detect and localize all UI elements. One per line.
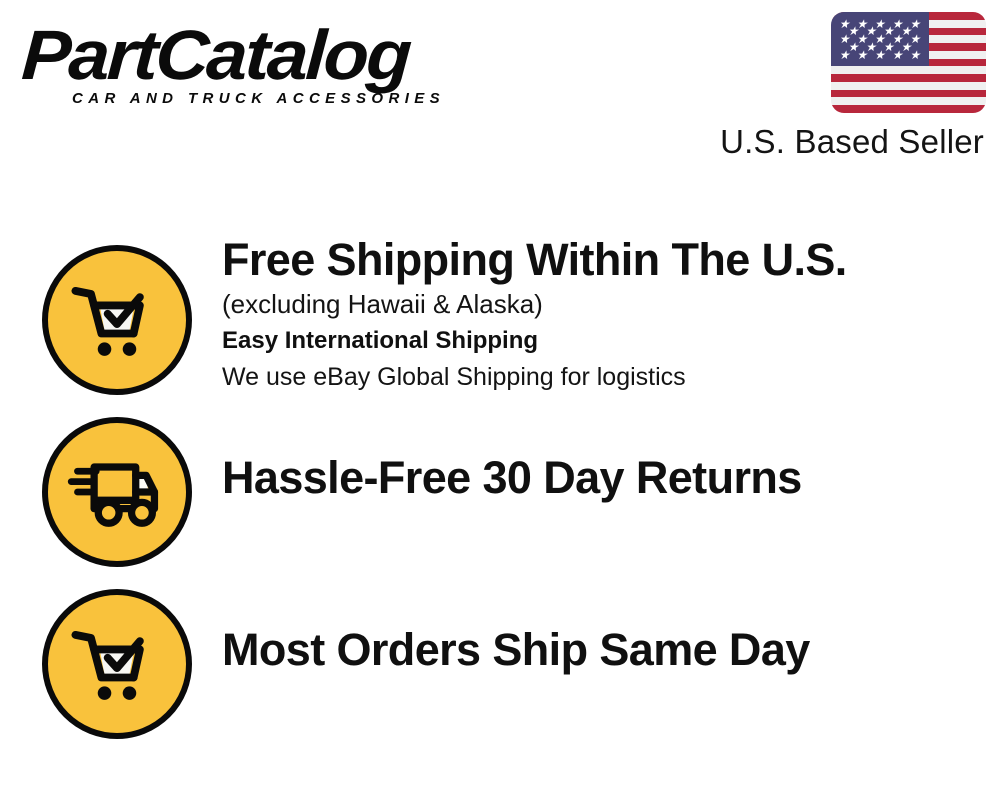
feature-row: Hassle-Free 30 Day Returns <box>0 404 1000 576</box>
flag-stripe <box>831 74 986 82</box>
us-flag-icon <box>831 12 986 113</box>
flag-canton <box>831 12 929 66</box>
feature-text-block: Hassle-Free 30 Day Returns <box>222 452 980 504</box>
feature-bold-line: Easy International Shipping <box>222 322 980 360</box>
feature-plain-line: We use eBay Global Shipping for logistic… <box>222 360 980 394</box>
feature-subtitle: (excluding Hawaii & Alaska) <box>222 286 980 322</box>
flag-stripe <box>831 97 986 105</box>
feature-row: Most Orders Ship Same Day <box>0 576 1000 748</box>
flag-stripe <box>831 66 986 74</box>
flag-stripe <box>831 90 986 98</box>
feature-text-block: Most Orders Ship Same Day <box>222 624 980 676</box>
shopping-cart-check-icon <box>42 245 192 395</box>
flag-stripe <box>831 82 986 90</box>
promo-banner: PartCatalog CAR AND TRUCK ACCESSORIES <box>0 0 1000 800</box>
feature-title: Hassle-Free 30 Day Returns <box>222 452 980 504</box>
brand-logo: PartCatalog CAR AND TRUCK ACCESSORIES <box>24 18 494 118</box>
flag-stripe <box>831 105 986 113</box>
shopping-cart-check-icon <box>42 589 192 739</box>
feature-row: Free Shipping Within The U.S. (excluding… <box>0 232 1000 404</box>
delivery-truck-icon <box>42 417 192 567</box>
us-based-seller-label: U.S. Based Seller <box>686 122 984 162</box>
feature-title: Most Orders Ship Same Day <box>222 624 980 676</box>
feature-list: Free Shipping Within The U.S. (excluding… <box>0 232 1000 748</box>
brand-name: PartCatalog <box>20 18 522 92</box>
feature-text-block: Free Shipping Within The U.S. (excluding… <box>222 234 980 394</box>
us-based-seller-badge: U.S. Based Seller <box>686 12 986 162</box>
feature-title: Free Shipping Within The U.S. <box>222 234 980 286</box>
